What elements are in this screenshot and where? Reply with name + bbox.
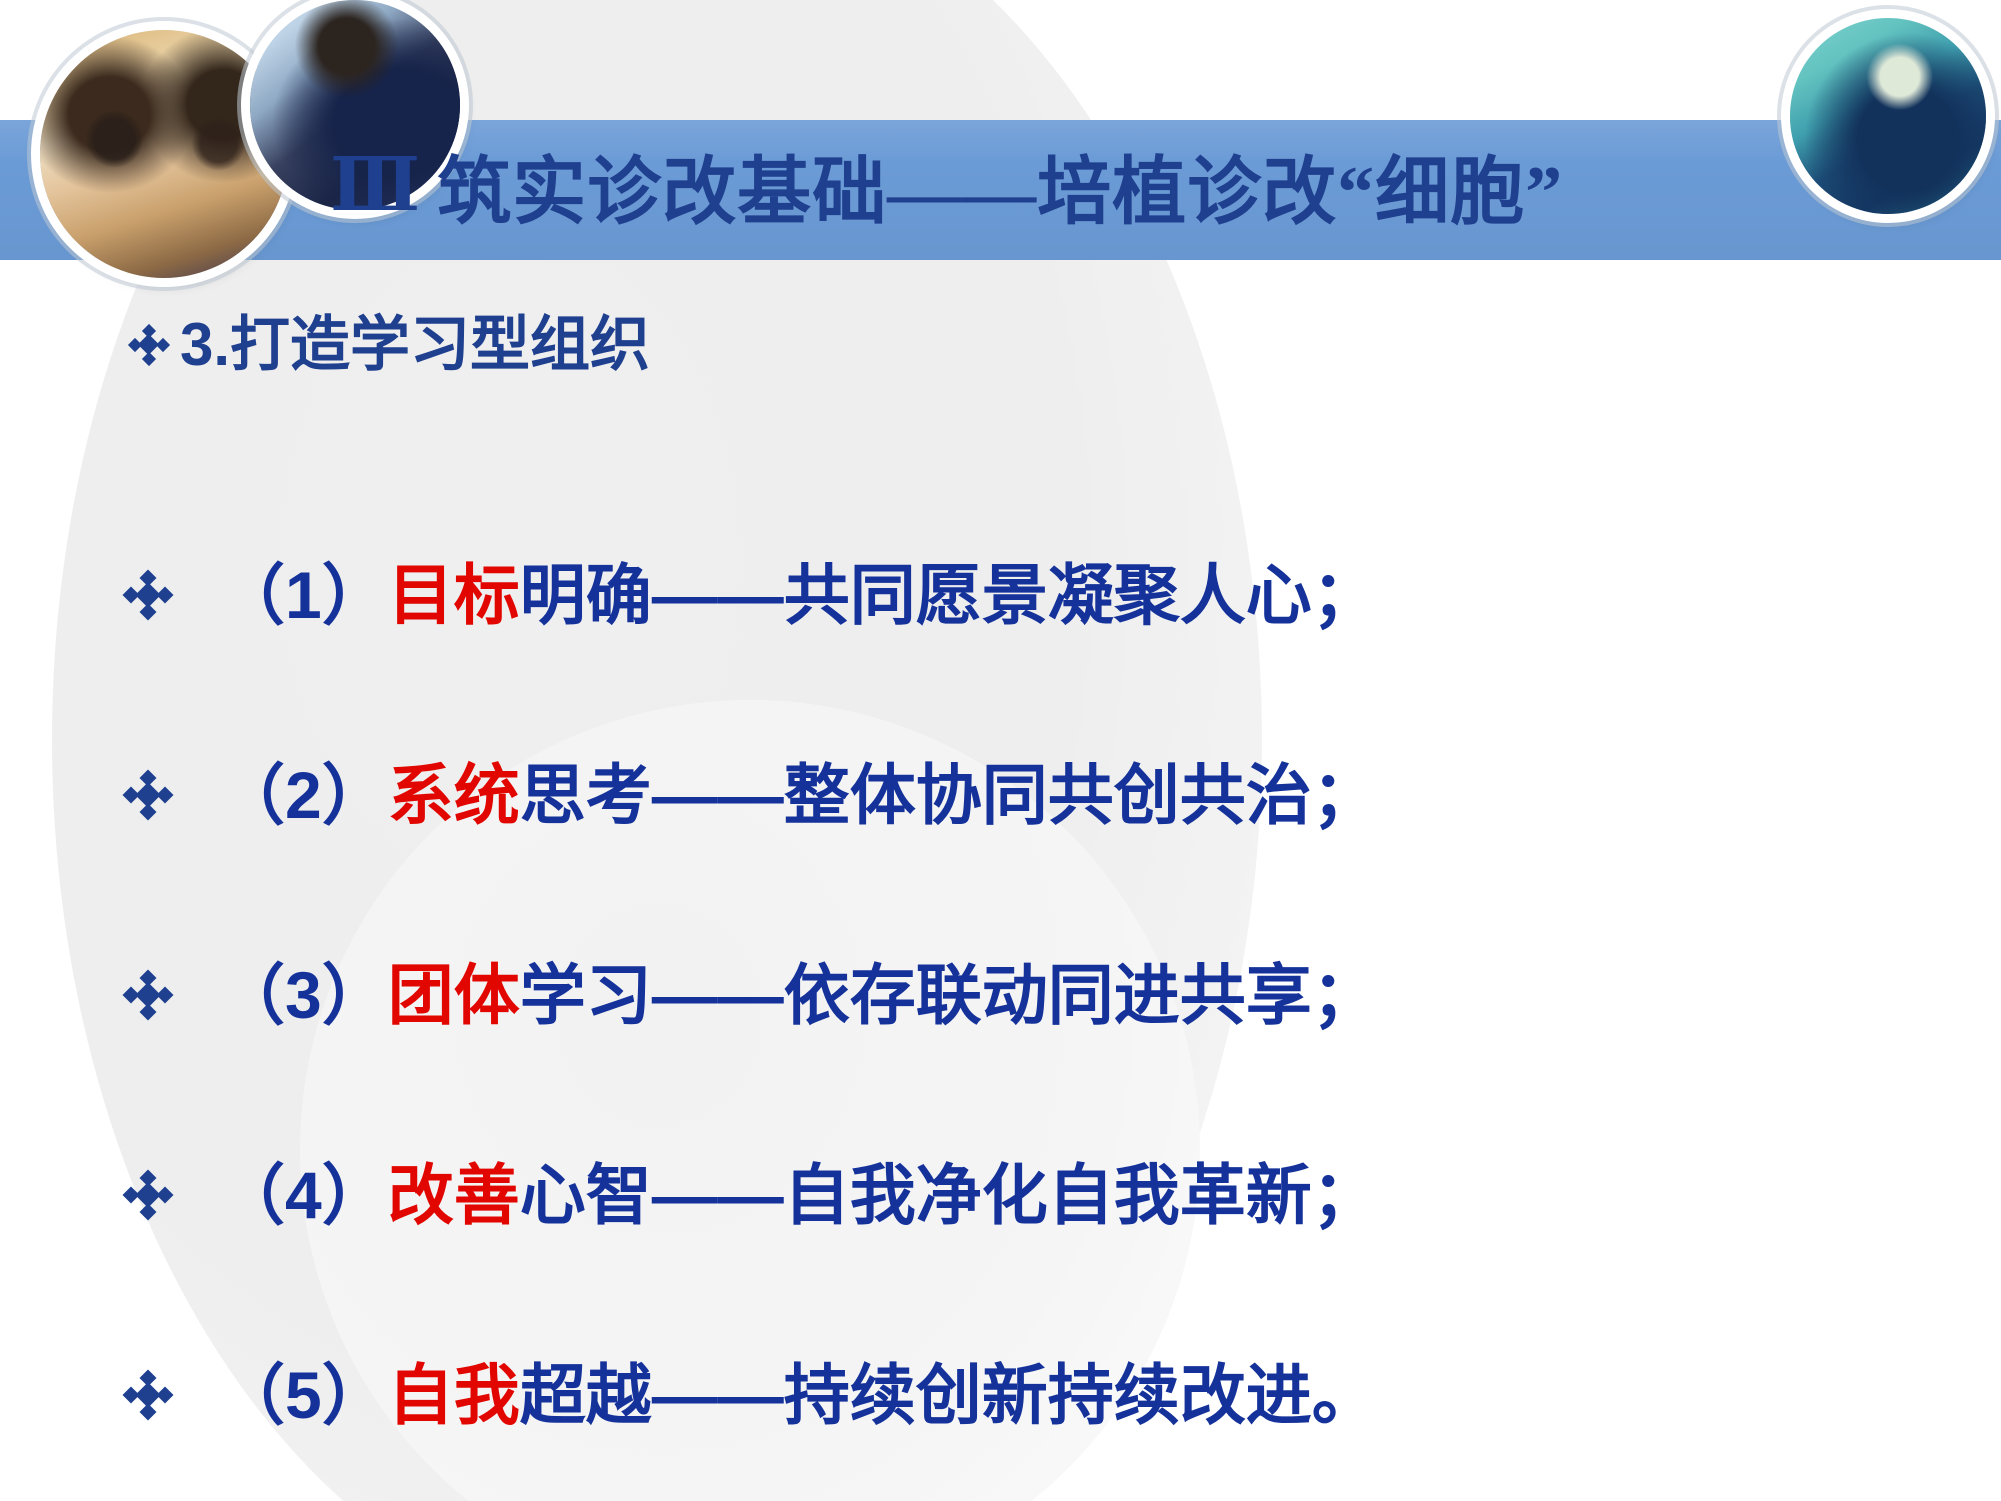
list-item-keyword: 自我 [388,1358,520,1432]
photo-image [1790,18,1986,214]
list-item-number: （4） [219,1158,388,1232]
list-item-text: （3）团体学习——依存联动同进共享； [219,962,1378,1028]
list-item-rest: 学习——依存联动同进共享； [520,958,1378,1032]
list-item: （2）系统思考——整体协同共创共治； [125,695,1925,895]
list-item-number: （1） [219,558,388,632]
diamond-bullet-icon [125,572,171,618]
diamond-bullet-icon [125,772,171,818]
circular-photo-presenter-with-chart [1790,18,1986,214]
list-item-keyword: 系统 [388,758,520,832]
bullet-list: （1）目标明确——共同愿景凝聚人心； （2）系统思考——整体协同共创共治； （3… [125,495,1925,1495]
list-item-rest: 明确——共同愿景凝聚人心； [520,558,1378,632]
list-item-number: （5） [219,1358,388,1432]
list-item: （5）自我超越——持续创新持续改进。 [125,1295,1925,1495]
list-item-keyword: 改善 [388,1158,520,1232]
title-numeral: Ⅲ [330,142,421,229]
list-item-text: （1）目标明确——共同愿景凝聚人心； [219,562,1378,628]
diamond-bullet-icon [130,326,168,364]
section-heading-label: 3.打造学习型组织 [180,315,650,375]
list-item-number: （3） [219,958,388,1032]
list-item: （3）团体学习——依存联动同进共享； [125,895,1925,1095]
list-item-text: （5）自我超越——持续创新持续改进。 [219,1362,1378,1428]
list-item-keyword: 团体 [388,958,520,1032]
title-text: 筑实诊改基础——培植诊改“细胞” [437,132,1563,239]
presentation-slide: Ⅲ 筑实诊改基础——培植诊改“细胞” 3.打造学习型组织 （1）目标明确——共同… [0,0,2001,1501]
diamond-bullet-icon [125,1372,171,1418]
list-item-rest: 思考——整体协同共创共治； [520,758,1378,832]
list-item: （1）目标明确——共同愿景凝聚人心； [125,495,1925,695]
slide-body: 3.打造学习型组织 （1）目标明确——共同愿景凝聚人心； （2）系统思考——整体… [0,260,2001,1501]
diamond-bullet-icon [125,972,171,1018]
list-item-rest: 心智——自我净化自我革新； [520,1158,1378,1232]
list-item-keyword: 目标 [388,558,520,632]
list-item-text: （4）改善心智——自我净化自我革新； [219,1162,1378,1228]
list-item-text: （2）系统思考——整体协同共创共治； [219,762,1378,828]
list-item: （4）改善心智——自我净化自我革新； [125,1095,1925,1295]
diamond-bullet-icon [125,1172,171,1218]
list-item-rest: 超越——持续创新持续改进。 [520,1358,1378,1432]
page-title: Ⅲ 筑实诊改基础——培植诊改“细胞” [330,125,1730,245]
list-item-number: （2） [219,758,388,832]
section-heading: 3.打造学习型组织 [130,315,650,375]
